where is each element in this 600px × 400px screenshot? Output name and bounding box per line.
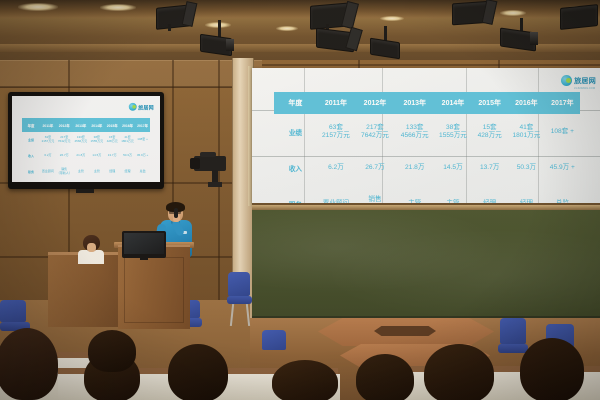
- camera-wall-mount: [208, 182, 222, 187]
- logo-circle-icon: [561, 75, 572, 86]
- tv-slide-logo: 旅居网: [129, 100, 154, 113]
- green-chalkboard: [252, 210, 600, 318]
- audience-head: [356, 354, 414, 400]
- table-cell: 13.7万: [471, 164, 508, 172]
- cell-line-2: 2157万元: [40, 140, 56, 144]
- cell-line-1: 41套: [508, 124, 545, 132]
- hex-table-opening: [374, 326, 436, 336]
- table-row-label: 职务: [22, 170, 40, 174]
- table-header-cell: 2012年: [56, 123, 73, 128]
- cell-line-2: 1801万元: [120, 140, 135, 144]
- table-header-cell: 2011年: [317, 98, 355, 108]
- cell-line-2: 428万元: [105, 140, 120, 144]
- cell-line-2: 2157万元: [317, 132, 355, 140]
- table-row-label: 收入: [22, 154, 40, 158]
- table-cell: 26.7万: [355, 164, 395, 172]
- table-header-cell: 2017年: [135, 123, 150, 128]
- seated-person-face: [87, 243, 96, 252]
- ceiling-downlight: [100, 4, 136, 11]
- cell-line-1: 217套: [355, 124, 395, 132]
- tv-screen: 旅居网 年度2011年2012年2013年2014年2015年2016年2017…: [12, 96, 160, 182]
- table-header-cell: 2015年: [471, 98, 508, 108]
- table-cell: 38套1555万元: [89, 136, 104, 144]
- podium-monitor: [122, 231, 166, 258]
- audience-head: [168, 344, 228, 400]
- table-cell: 50.3万: [120, 154, 135, 158]
- table-header-cell: 年度: [22, 123, 40, 128]
- cell-line-1: 63套: [317, 124, 355, 132]
- cell-line-1: 50.3万: [508, 164, 545, 172]
- cell-line-1: 6.2万: [40, 154, 56, 158]
- table-header-cell: 2013年: [73, 123, 90, 128]
- cell-line-1: 经理: [105, 170, 120, 174]
- table-cell: 14.5万: [435, 164, 472, 172]
- camera-handle: [200, 152, 216, 157]
- ceiling-downlight: [276, 26, 298, 31]
- table-cell: 108套 +: [135, 138, 150, 142]
- table-row: 业绩63套2157万元217套7642万元133套4566万元38套1555万元…: [274, 114, 580, 150]
- table-header-cell: 2015年: [105, 123, 120, 128]
- tv-table-body: 业绩63套2157万元217套7642万元133套4566万元38套1555万元…: [22, 132, 150, 180]
- cell-line-2: 428万元: [471, 132, 508, 140]
- cell-line-1: 38套: [435, 124, 472, 132]
- tv-stand: [76, 189, 94, 193]
- audience-head: [424, 344, 494, 400]
- table-header-cell: 2016年: [120, 123, 135, 128]
- microphone-icon: [174, 208, 178, 218]
- logo-circle-icon: [129, 103, 137, 111]
- table-header-cell: 2014年: [435, 98, 472, 108]
- table-cell: 41套1801万元: [508, 124, 545, 140]
- cell-line-1: 21.8万: [395, 164, 435, 172]
- table-cell: 41套1801万元: [120, 136, 135, 144]
- table-cell: 45.9万 +: [135, 154, 150, 158]
- cell-line-2: 7642万元: [56, 140, 73, 144]
- table-cell: 置业顾问: [40, 170, 56, 174]
- table-row-label: 业绩: [22, 138, 40, 142]
- table-cell: 133套4566万元: [73, 136, 90, 144]
- table-row-label: 业绩: [274, 127, 317, 137]
- logo-text: 旅居网: [138, 106, 154, 111]
- cell-line-1: 133套: [395, 124, 435, 132]
- table-header-cell: 年度: [274, 98, 317, 108]
- cell-line-1: 45.9万 +: [545, 164, 580, 172]
- cell-line-1: 15套: [471, 124, 508, 132]
- table-header-row: 年度2011年2012年2013年2014年2015年2016年2017年: [274, 92, 580, 114]
- tv-table-header-row: 年度2011年2012年2013年2014年2015年2016年2017年: [22, 118, 150, 132]
- table-cell: 217套7642万元: [355, 124, 395, 140]
- table-header-cell: 2017年: [545, 98, 580, 108]
- table-cell: 总监: [135, 170, 150, 174]
- cell-line-2: 1555万元: [435, 132, 472, 140]
- camera-lens-icon: [190, 158, 200, 169]
- table-cell: 45.9万 +: [545, 164, 580, 172]
- audience-head: [0, 328, 58, 400]
- lecture-hall-photo: 旅居网 年度2011年2012年2013年2014年2015年2016年2017…: [0, 0, 600, 400]
- table-header-cell: 2016年: [508, 98, 545, 108]
- table-cell: 38套1555万元: [435, 124, 472, 140]
- cell-line-1: 主管: [89, 170, 104, 174]
- table-cell: 销售（带新人）: [56, 168, 73, 176]
- cell-line-1: 108套 +: [135, 138, 150, 142]
- table-row: 业绩63套2157万元217套7642万元133套4566万元38套1555万元…: [22, 132, 150, 148]
- audience-head: [272, 360, 338, 400]
- projection-screen: 旅居网 LVJUWANG.COM 年度2011年2012年2013年2014年2…: [252, 68, 600, 203]
- cell-line-1: 13.7万: [105, 154, 120, 158]
- logo-text: 旅居网: [574, 78, 596, 85]
- slide-logo: 旅居网 LVJUWANG.COM: [561, 70, 596, 91]
- cell-line-2: 1555万元: [89, 140, 104, 144]
- table-cell: 217套7642万元: [56, 136, 73, 144]
- cell-line-2: 4566万元: [395, 132, 435, 140]
- table-row: 职务置业顾问销售（带新人）主管主管经理经理总监: [22, 164, 150, 180]
- cell-line-1: 50.3万: [120, 154, 135, 158]
- cell-line-1: 14.5万: [89, 154, 104, 158]
- cell-line-1: 21.8万: [73, 154, 90, 158]
- tv-slide-table: 年度2011年2012年2013年2014年2015年2016年2017年 业绩…: [22, 118, 150, 180]
- table-header-cell: 2013年: [395, 98, 435, 108]
- seated-person-body: [78, 250, 104, 264]
- table-cell: 主管: [89, 170, 104, 174]
- table-header-cell: 2014年: [89, 123, 104, 128]
- table-cell: 经理: [105, 170, 120, 174]
- audience-head: [520, 338, 584, 400]
- cell-line-1: 6.2万: [317, 164, 355, 172]
- cell-line-2: （带新人）: [56, 172, 73, 176]
- table-cell: 14.5万: [89, 154, 104, 158]
- monitor-stand: [140, 256, 148, 260]
- ceiling-downlight: [500, 10, 526, 16]
- table-cell: 26.7万: [56, 154, 73, 158]
- table-row-label: 收入: [274, 163, 317, 173]
- table-cell: 21.8万: [395, 164, 435, 172]
- cell-line-1: 14.5万: [435, 164, 472, 172]
- table-cell: 经理: [120, 170, 135, 174]
- cell-line-1: 26.7万: [56, 154, 73, 158]
- cell-line-1: 置业顾问: [40, 170, 56, 174]
- audience-head: [88, 330, 136, 372]
- table-row: 收入6.2万26.7万21.8万14.5万13.7万50.3万45.9万 +: [22, 148, 150, 164]
- cell-line-1: 主管: [73, 170, 90, 174]
- table-cell: 63套2157万元: [317, 124, 355, 140]
- cell-line-1: 经理: [120, 170, 135, 174]
- cell-line-2: 4566万元: [73, 140, 90, 144]
- table-cell: 108套 +: [545, 128, 580, 136]
- table-header-cell: 2011年: [40, 123, 56, 128]
- table-cell: 主管: [73, 170, 90, 174]
- table-cell: 15套428万元: [471, 124, 508, 140]
- cell-line-2: 1801万元: [508, 132, 545, 140]
- table-cell: 133套4566万元: [395, 124, 435, 140]
- table-row: 收入6.2万26.7万21.8万14.5万13.7万50.3万45.9万 +: [274, 150, 580, 186]
- wall-mounted-tv: 旅居网 年度2011年2012年2013年2014年2015年2016年2017…: [8, 92, 164, 189]
- logo-subtext: LVJUWANG.COM: [574, 88, 596, 91]
- table-cell: 6.2万: [40, 154, 56, 158]
- ceiling-downlight: [18, 3, 58, 11]
- table-cell: 21.8万: [73, 154, 90, 158]
- cell-line-1: 26.7万: [355, 164, 395, 172]
- cell-line-2: 7642万元: [355, 132, 395, 140]
- table-cell: 63套2157万元: [40, 136, 56, 144]
- cell-line-1: 总监: [135, 170, 150, 174]
- table-header-cell: 2012年: [355, 98, 395, 108]
- cell-line-1: 13.7万: [471, 164, 508, 172]
- table-cell: 50.3万: [508, 164, 545, 172]
- cell-line-1: 45.9万 +: [135, 154, 150, 158]
- table-cell: 6.2万: [317, 164, 355, 172]
- table-cell: 15套428万元: [105, 136, 120, 144]
- ceiling-downlight: [380, 16, 404, 21]
- cell-line-1: 108套 +: [545, 128, 580, 136]
- table-cell: 13.7万: [105, 154, 120, 158]
